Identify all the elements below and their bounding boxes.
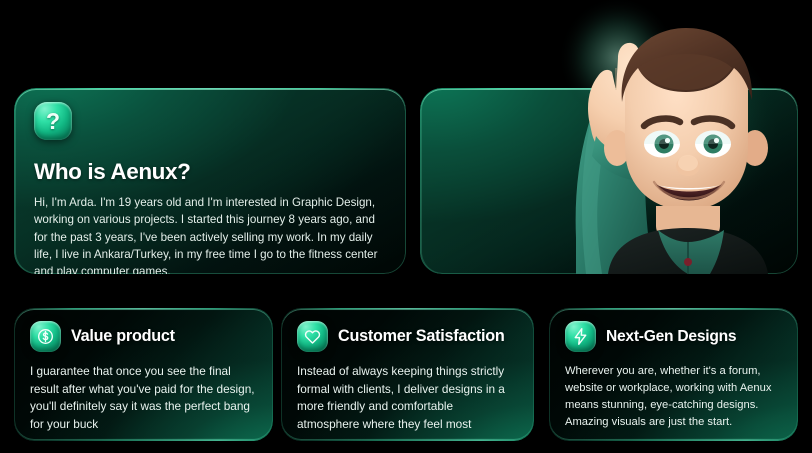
lightning-bolt-icon bbox=[565, 321, 596, 352]
feature-card-body: Wherever you are, whether it's a forum, … bbox=[565, 363, 782, 431]
about-card-body: Hi, I'm Arda. I'm 19 years old and I'm i… bbox=[34, 194, 386, 274]
dollar-circle-icon bbox=[30, 321, 61, 352]
avatar-card bbox=[420, 88, 798, 274]
feature-card-next-gen-designs: Next-Gen Designs Wherever you are, wheth… bbox=[549, 308, 798, 441]
avatar-card-background bbox=[420, 88, 798, 274]
page-root: ? Who is Aenux? Hi, I'm Arda. I'm 19 yea… bbox=[0, 0, 812, 453]
feature-card-customer-satisfaction: Customer Satisfaction Instead of always … bbox=[281, 308, 534, 441]
about-card: ? Who is Aenux? Hi, I'm Arda. I'm 19 yea… bbox=[14, 88, 406, 274]
feature-card-body: Instead of always keeping things strictl… bbox=[297, 363, 518, 434]
feature-card-value-product: Value product I guarantee that once you … bbox=[14, 308, 273, 441]
feature-card-title: Customer Satisfaction bbox=[338, 327, 505, 346]
heart-icon bbox=[297, 321, 328, 352]
feature-card-title: Value product bbox=[71, 327, 175, 346]
question-mark-glyph: ? bbox=[46, 110, 60, 133]
feature-card-title: Next-Gen Designs bbox=[606, 328, 736, 346]
about-card-title: Who is Aenux? bbox=[34, 159, 386, 185]
feature-card-body: I guarantee that once you see the final … bbox=[30, 363, 257, 434]
question-mark-icon: ? bbox=[34, 102, 72, 140]
